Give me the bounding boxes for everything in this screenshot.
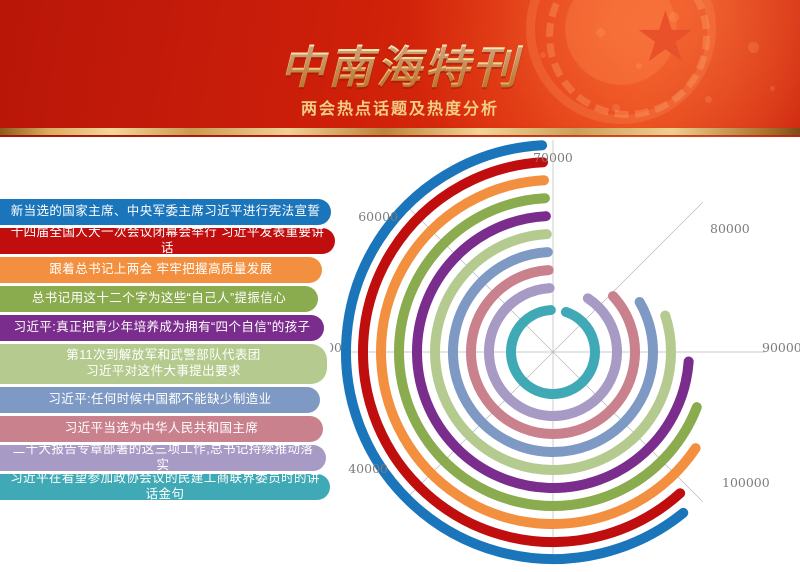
legend-list: 新当选的国家主席、中央军委主席习近平进行宪法宣誓十四届全国人大一次会议闭幕会举行…: [0, 199, 340, 503]
page-title: 中南海特刊: [0, 31, 800, 96]
infographic-page: 中南海特刊 两会热点话题及热度分析 新当选的国家主席、中央军委主席习近平进行宪法…: [0, 0, 800, 572]
legend-item-label: 习近平:任何时候中国都不能缺少制造业: [48, 392, 271, 408]
legend-item[interactable]: 习近平当选为中华人民共和国主席: [0, 416, 323, 442]
legend-item[interactable]: 新当选的国家主席、中央军委主席习近平进行宪法宣誓: [0, 199, 331, 225]
legend-item[interactable]: 二十大报告专章部署的这三项工作,总书记持续推动落实: [0, 445, 326, 471]
legend-item[interactable]: 习近平:任何时候中国都不能缺少制造业: [0, 387, 320, 413]
legend-item[interactable]: 习近平在看望参加政协会议的民建工商联界委员时的讲话金句: [0, 474, 330, 500]
legend-item-label: 总书记用这十二个字为这些“自己人”提振信心: [32, 291, 286, 307]
legend-item-label: 习近平:真正把青少年培养成为拥有“四个自信”的孩子: [14, 320, 311, 336]
header-banner: 中南海特刊 两会热点话题及热度分析: [0, 0, 800, 137]
chart-tick-label: 80000: [710, 221, 750, 236]
legend-item[interactable]: 十四届全国人大一次会议闭幕会举行 习近平发表重要讲话: [0, 228, 335, 254]
legend-item-label: 习近平在看望参加政协会议的民建工商联界委员时的讲话金句: [10, 471, 320, 502]
legend-item[interactable]: 第11次到解放军和武警部队代表团 习近平对这件大事提出要求: [0, 344, 327, 384]
radial-spiral-chart: 400005000060000700008000090000100000: [330, 140, 800, 572]
legend-item-label: 跟着总书记上两会 牢牢把握高质量发展: [49, 262, 272, 278]
bokeh-dot: [669, 12, 679, 22]
chart-tick-label: 60000: [358, 209, 398, 224]
chart-canvas: 400005000060000700008000090000100000: [330, 140, 800, 572]
legend-item-label: 第11次到解放军和武警部队代表团 习近平对这件大事提出要求: [66, 348, 260, 379]
legend-item-label: 习近平当选为中华人民共和国主席: [65, 421, 259, 437]
legend-item-label: 十四届全国人大一次会议闭幕会举行 习近平发表重要讲话: [10, 225, 325, 256]
legend-item[interactable]: 总书记用这十二个字为这些“自己人”提振信心: [0, 286, 318, 312]
chart-tick-label: 40000: [348, 461, 388, 476]
chart-tick-label: 70000: [533, 150, 573, 165]
page-subtitle: 两会热点话题及热度分析: [0, 95, 800, 119]
legend-item[interactable]: 跟着总书记上两会 牢牢把握高质量发展: [0, 257, 322, 283]
legend-item-label: 二十大报告专章部署的这三项工作,总书记持续推动落实: [10, 442, 316, 473]
chart-tick-label: 90000: [762, 340, 800, 355]
legend-item-label: 新当选的国家主席、中央军委主席习近平进行宪法宣誓: [11, 204, 321, 220]
chart-tick-label: 50000: [330, 340, 342, 355]
legend-item[interactable]: 习近平:真正把青少年培养成为拥有“四个自信”的孩子: [0, 315, 324, 341]
chart-tick-label: 100000: [722, 475, 770, 490]
gold-divider: [0, 128, 800, 135]
